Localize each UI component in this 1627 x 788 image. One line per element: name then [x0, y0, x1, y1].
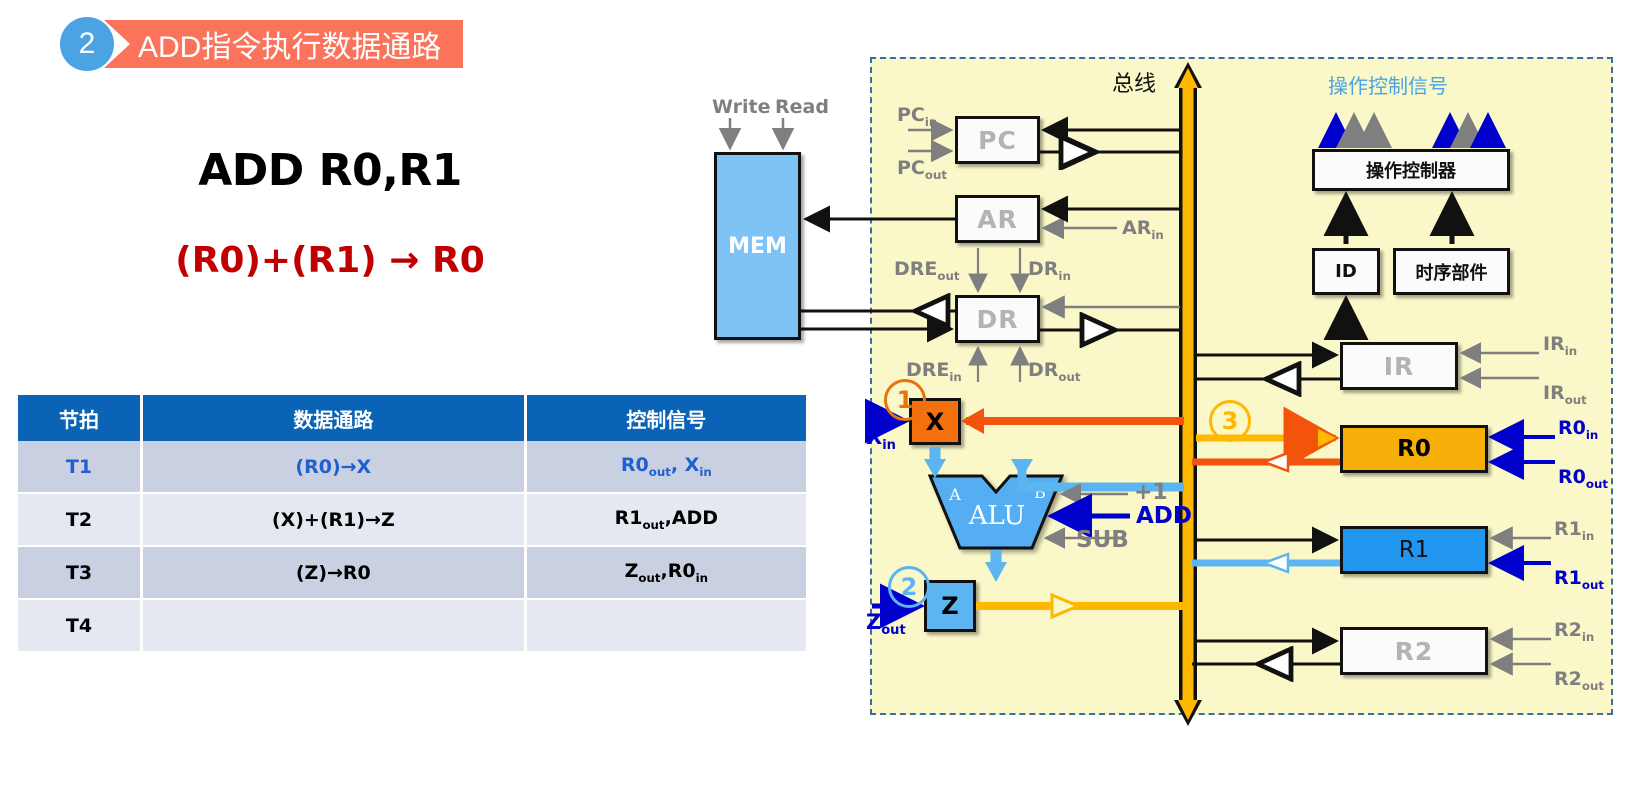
tristate-r1 [1264, 554, 1288, 572]
section-number-badge: 2 [60, 17, 114, 71]
label-add: ADD [1136, 503, 1192, 529]
label-dr-out: DRout [1028, 359, 1081, 384]
label-bus: 总线 [1112, 66, 1156, 98]
label-dre-out: DREout [894, 258, 959, 283]
label-pc-in: PCin [897, 104, 937, 129]
tristate-z [1052, 595, 1078, 617]
label-x-in: Xin [866, 425, 896, 453]
label-sub: SUB [1076, 527, 1129, 553]
step-marker-3: 3 [1209, 400, 1251, 442]
path-step1-arrowhead [961, 408, 984, 434]
label-r1-in: R1in [1554, 518, 1594, 543]
wiring-layer [0, 0, 1627, 788]
label-ar-in: ARin [1122, 217, 1164, 242]
step-marker-1: 1 [884, 379, 926, 421]
label-r1-out: R1out [1554, 567, 1604, 592]
tristate-r0 [1264, 453, 1288, 471]
label-dre-in: DREin [906, 359, 962, 384]
label-r2-out: R2out [1554, 668, 1604, 693]
label-r2-in: R2in [1554, 619, 1594, 644]
label-r0-in: R0in [1558, 417, 1598, 442]
label-ir-in: IRin [1543, 333, 1577, 358]
label-r0-out: R0out [1558, 466, 1608, 491]
label-z-out: Zout [866, 610, 906, 638]
label-pc-out: PCout [897, 157, 947, 182]
label-plus-one: +1 [1134, 480, 1168, 505]
label-control-signal: 操作控制信号 [1328, 70, 1448, 99]
label-ir-out: IRout [1543, 382, 1587, 407]
label-dr-in: DRin [1028, 258, 1071, 283]
step-marker-2: 2 [888, 566, 930, 608]
